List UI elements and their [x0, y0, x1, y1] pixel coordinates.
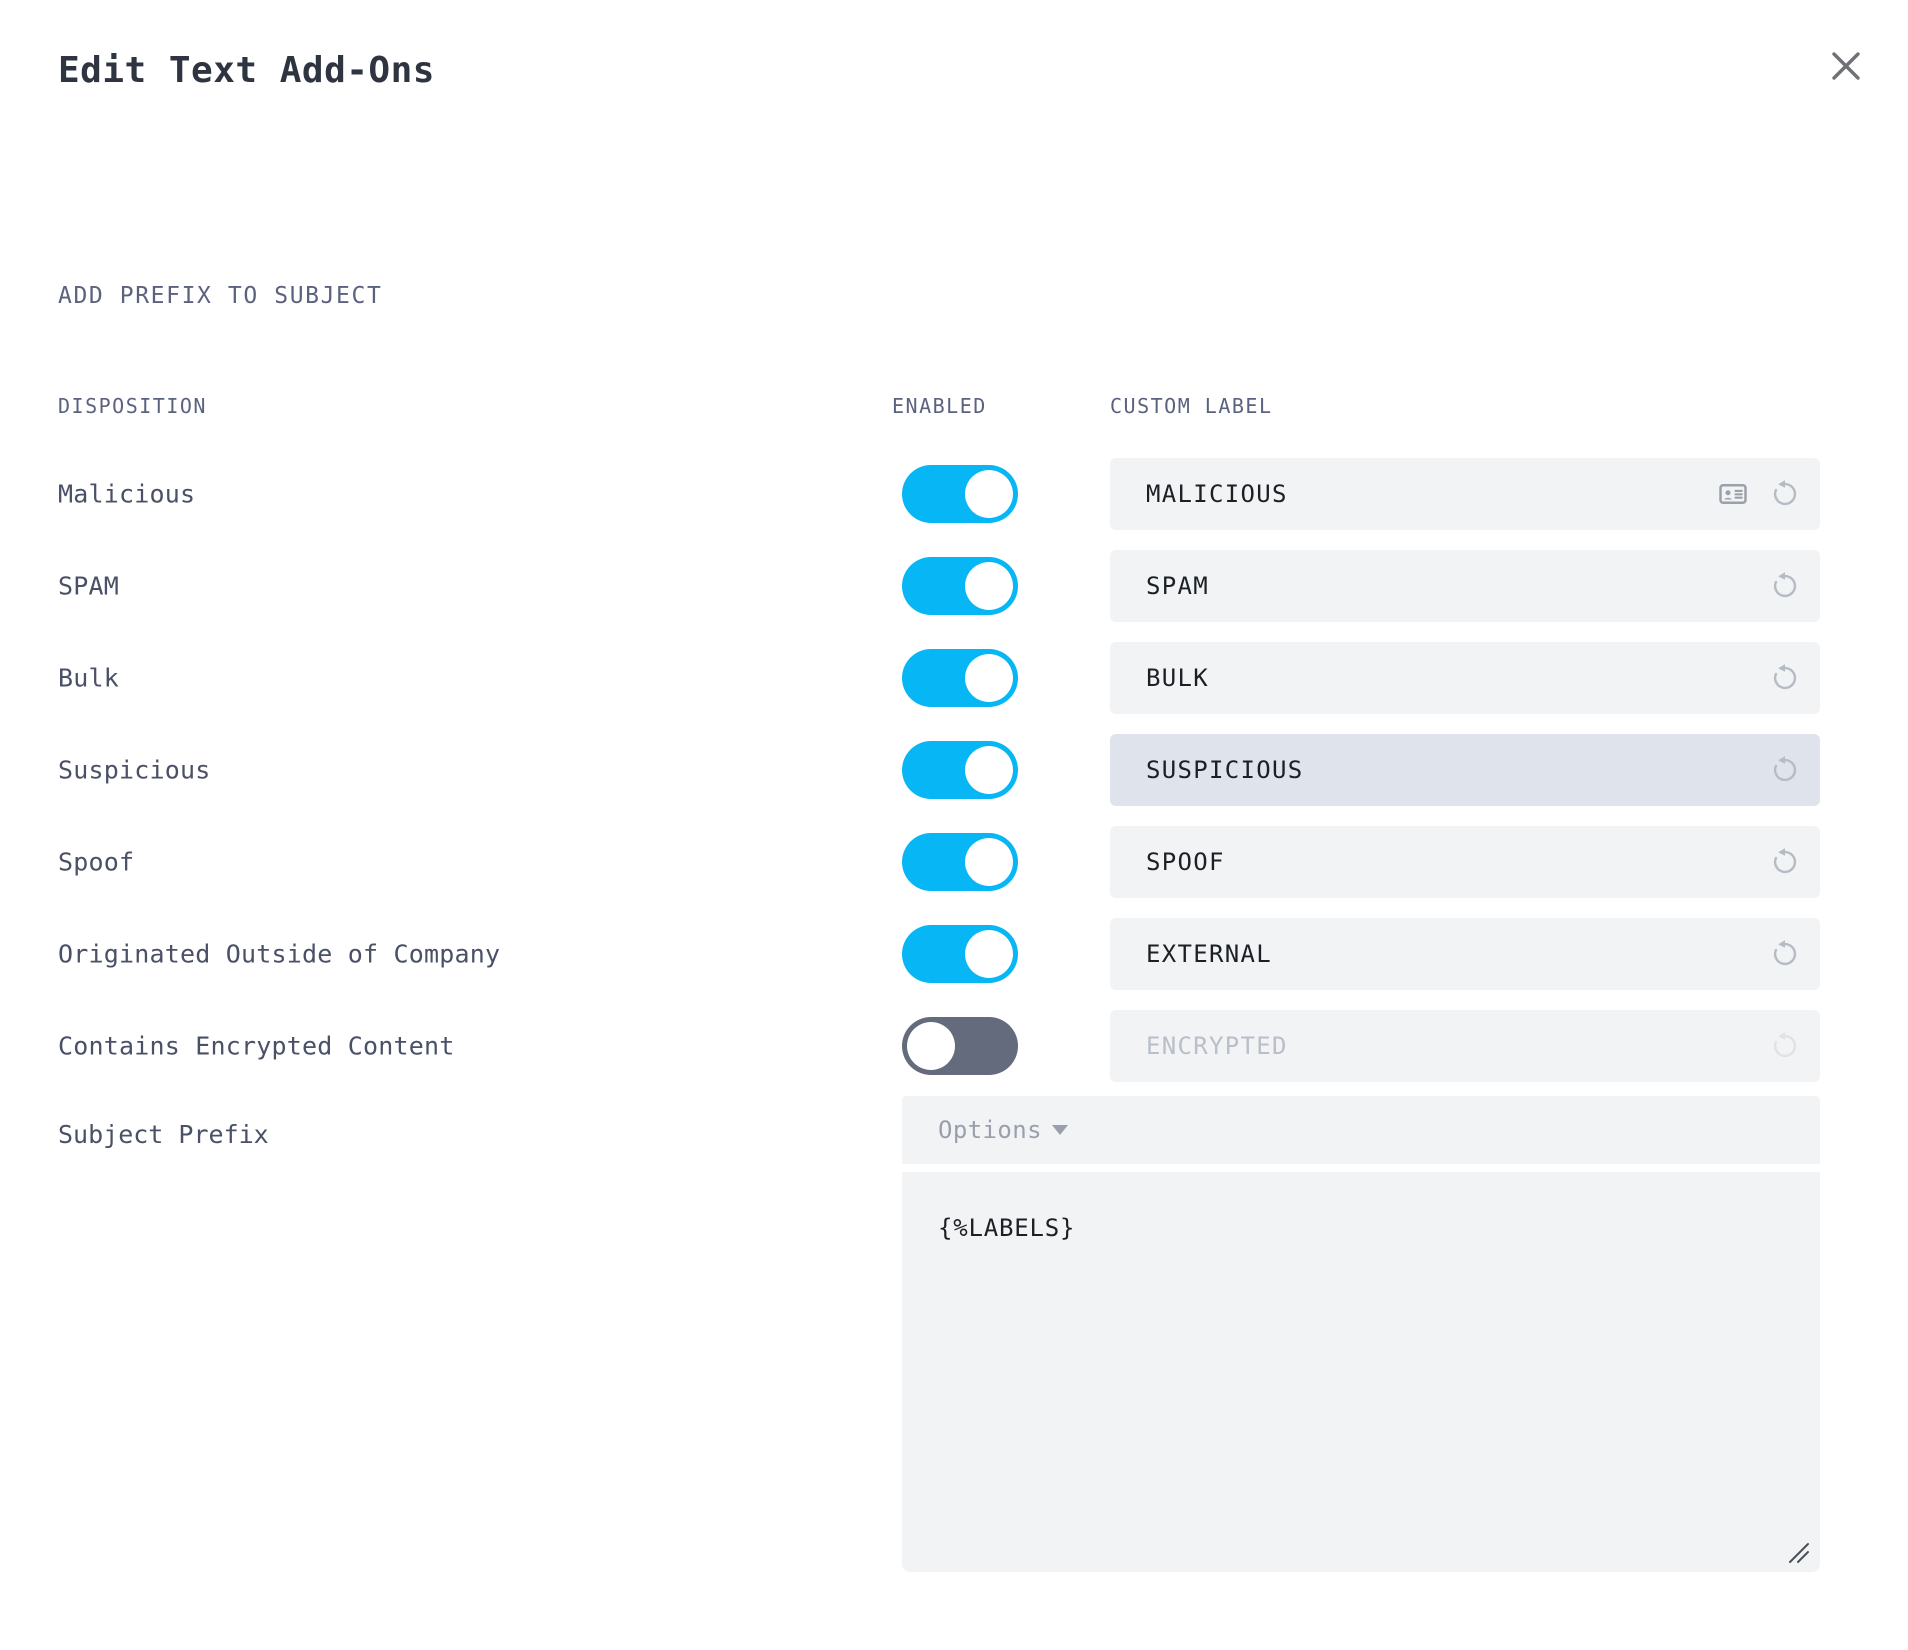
row-disposition-label: Suspicious	[58, 756, 211, 785]
enabled-toggle[interactable]	[902, 741, 1018, 799]
column-header-enabled: ENABLED	[892, 394, 987, 418]
custom-label-value: ENCRYPTED	[1146, 1032, 1754, 1060]
reset-icon[interactable]	[1766, 567, 1804, 605]
reset-icon[interactable]	[1766, 659, 1804, 697]
custom-label-field[interactable]: SPAM	[1110, 550, 1820, 622]
table-row: Spoof SPOOF	[0, 816, 1908, 908]
table-row: SPAM SPAM	[0, 540, 1908, 632]
resize-grip-icon[interactable]	[1784, 1538, 1810, 1564]
custom-label-value: SPAM	[1146, 572, 1754, 600]
enabled-toggle[interactable]	[902, 649, 1018, 707]
field-icon-group	[1766, 1027, 1804, 1065]
enabled-toggle[interactable]	[902, 465, 1018, 523]
custom-label-value: EXTERNAL	[1146, 940, 1754, 968]
table-row: Contains Encrypted Content ENCRYPTED	[0, 1000, 1908, 1092]
field-icon-group	[1766, 843, 1804, 881]
custom-label-field[interactable]: SUSPICIOUS	[1110, 734, 1820, 806]
custom-label-value: SUSPICIOUS	[1146, 756, 1754, 784]
reset-icon	[1766, 1027, 1804, 1065]
id-card-icon[interactable]	[1714, 475, 1752, 513]
dialog-header: Edit Text Add-Ons	[0, 0, 1908, 150]
subject-prefix-label: Subject Prefix	[58, 1120, 269, 1149]
subject-prefix-textarea[interactable]: {%LABELS}	[902, 1172, 1820, 1572]
row-disposition-label: Bulk	[58, 664, 119, 693]
close-button[interactable]	[1816, 36, 1876, 96]
toggle-knob	[965, 562, 1013, 610]
custom-label-value: BULK	[1146, 664, 1754, 692]
field-icon-group	[1714, 475, 1804, 513]
column-header-custom-label: CUSTOM LABEL	[1110, 394, 1273, 418]
table-row: Malicious MALICIOUS	[0, 448, 1908, 540]
toggle-knob	[965, 838, 1013, 886]
field-icon-group	[1766, 751, 1804, 789]
row-disposition-label: Malicious	[58, 480, 195, 509]
toggle-knob	[965, 746, 1013, 794]
custom-label-field[interactable]: BULK	[1110, 642, 1820, 714]
options-dropdown-label: Options	[938, 1116, 1042, 1144]
reset-icon[interactable]	[1766, 751, 1804, 789]
custom-label-value: SPOOF	[1146, 848, 1754, 876]
column-header-disposition: DISPOSITION	[58, 394, 207, 418]
row-disposition-label: Contains Encrypted Content	[58, 1032, 455, 1061]
table-row: Originated Outside of Company EXTERNAL	[0, 908, 1908, 1000]
subject-prefix-value: {%LABELS}	[938, 1214, 1820, 1242]
toggle-knob	[907, 1022, 955, 1070]
enabled-toggle[interactable]	[902, 557, 1018, 615]
reset-icon[interactable]	[1766, 475, 1804, 513]
field-icon-group	[1766, 567, 1804, 605]
custom-label-value: MALICIOUS	[1146, 480, 1702, 508]
custom-label-field[interactable]: ENCRYPTED	[1110, 1010, 1820, 1082]
row-disposition-label: Spoof	[58, 848, 134, 877]
section-title: ADD PREFIX TO SUBJECT	[58, 283, 382, 309]
row-disposition-label: Originated Outside of Company	[58, 940, 500, 969]
custom-label-field[interactable]: SPOOF	[1110, 826, 1820, 898]
custom-label-field[interactable]: MALICIOUS	[1110, 458, 1820, 530]
table-row: Bulk BULK	[0, 632, 1908, 724]
reset-icon[interactable]	[1766, 935, 1804, 973]
toggle-knob	[965, 470, 1013, 518]
toggle-knob	[965, 654, 1013, 702]
table-row: Suspicious SUSPICIOUS	[0, 724, 1908, 816]
enabled-toggle[interactable]	[902, 925, 1018, 983]
row-disposition-label: SPAM	[58, 572, 119, 601]
reset-icon[interactable]	[1766, 843, 1804, 881]
custom-label-field[interactable]: EXTERNAL	[1110, 918, 1820, 990]
toggle-knob	[965, 930, 1013, 978]
field-icon-group	[1766, 935, 1804, 973]
subject-prefix-toolbar: Options	[902, 1096, 1820, 1164]
enabled-toggle[interactable]	[902, 1017, 1018, 1075]
chevron-down-icon	[1052, 1125, 1068, 1135]
dialog-title: Edit Text Add-Ons	[58, 50, 435, 91]
options-dropdown-button[interactable]: Options	[938, 1116, 1068, 1144]
close-icon	[1829, 49, 1863, 83]
enabled-toggle[interactable]	[902, 833, 1018, 891]
field-icon-group	[1766, 659, 1804, 697]
